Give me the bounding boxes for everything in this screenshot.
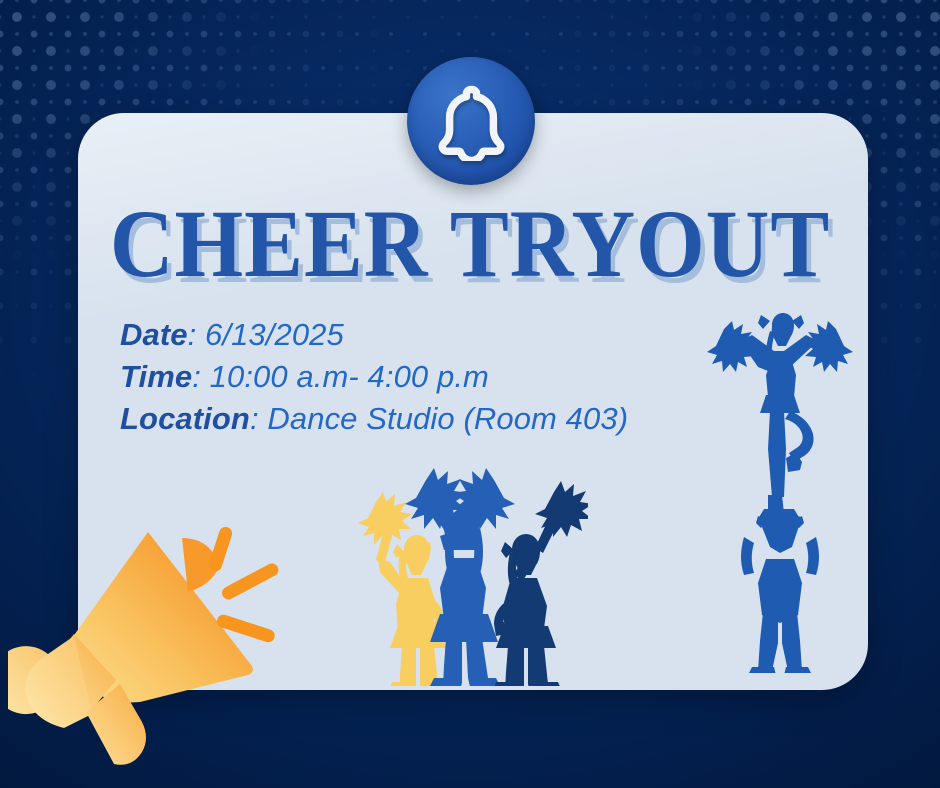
detail-row-location: Location: Dance Studio (Room 403) xyxy=(120,398,628,440)
cheerleader-yellow xyxy=(358,492,447,686)
detail-value-date: 6/13/2025 xyxy=(205,317,344,352)
cheer-stunt-pair-silhouette xyxy=(700,303,860,673)
detail-value-location: Dance Studio (Room 403) xyxy=(267,401,628,436)
detail-row-time: Time: 10:00 a.m- 4:00 p.m xyxy=(120,356,628,398)
bell-icon xyxy=(434,81,508,161)
detail-sep-location: : xyxy=(250,401,267,436)
bell-badge xyxy=(407,57,535,185)
cheerleader-navy xyxy=(494,481,588,686)
detail-sep-date: : xyxy=(188,317,205,352)
detail-value-time: 10:00 a.m- 4:00 p.m xyxy=(210,359,489,394)
detail-label-date: Date xyxy=(120,317,188,352)
megaphone-icon xyxy=(8,516,298,788)
cheerleader-trio-silhouette xyxy=(348,466,588,686)
detail-label-location: Location xyxy=(120,401,250,436)
poster-canvas: CHEER TRYOUT Date: 6/13/2025 Time: 10:00… xyxy=(0,0,940,788)
detail-label-time: Time xyxy=(120,359,192,394)
detail-sep-time: : xyxy=(192,359,209,394)
poster-title: CHEER TRYOUT xyxy=(38,196,903,292)
detail-row-date: Date: 6/13/2025 xyxy=(120,314,628,356)
poster-details: Date: 6/13/2025 Time: 10:00 a.m- 4:00 p.… xyxy=(120,314,628,440)
